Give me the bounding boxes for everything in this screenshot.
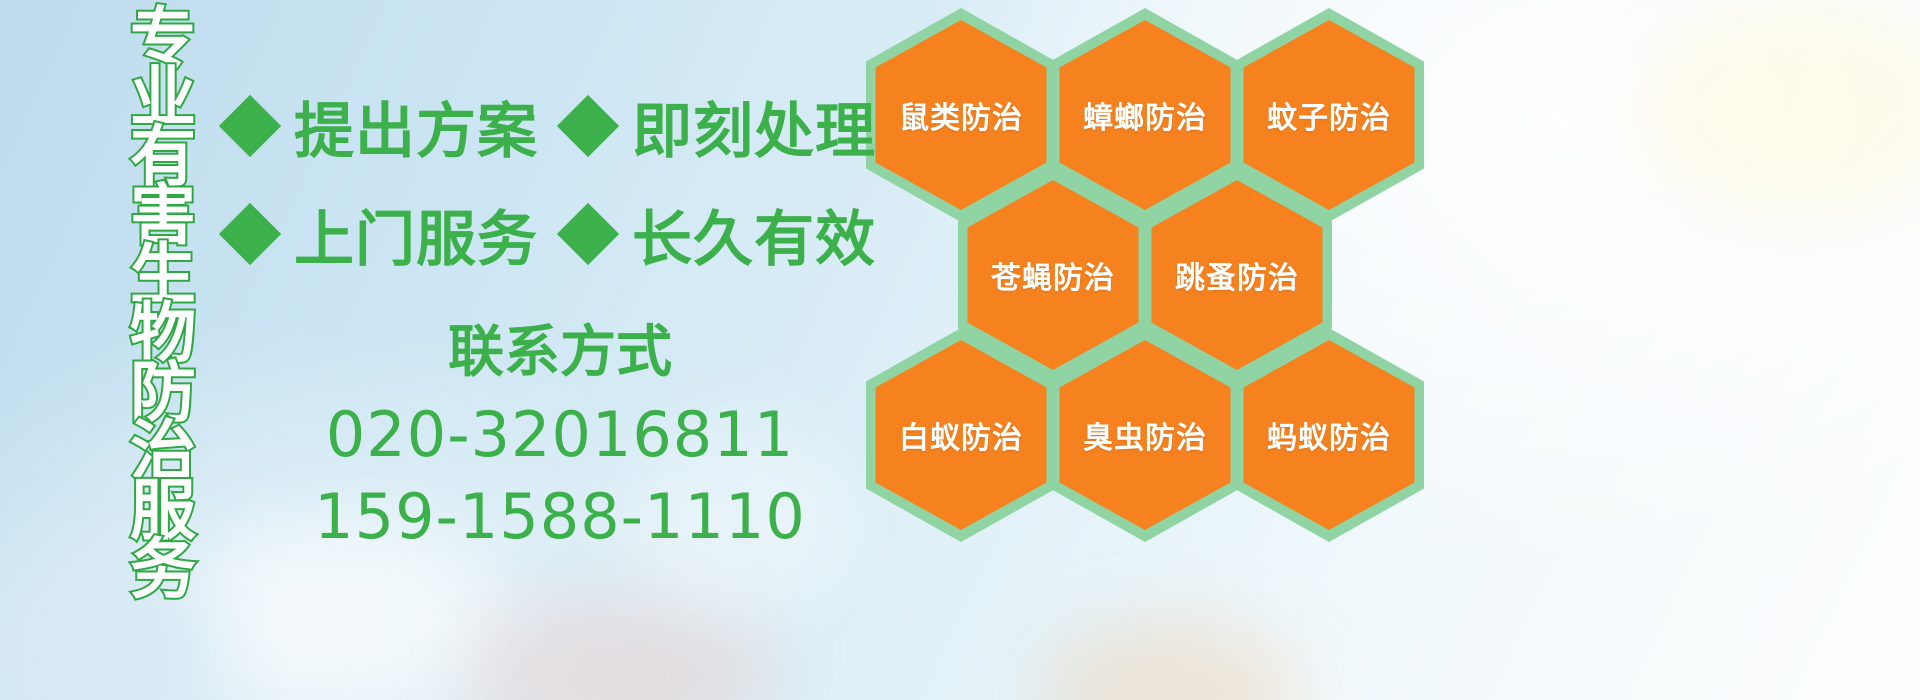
vertical-slogan-char: 治 — [130, 419, 196, 478]
vertical-slogan-char: 物 — [130, 301, 196, 360]
vertical-slogan-char: 有 — [130, 124, 196, 183]
feature-row: 提出方案 即刻处理 — [228, 72, 868, 180]
diamond-icon — [219, 203, 281, 265]
background-blob — [1640, 0, 1920, 220]
diamond-icon — [557, 203, 619, 265]
contact-block: 联系方式 020-32016811 159-1588-1110 — [300, 318, 820, 558]
vertical-slogan-char: 专 — [130, 6, 196, 65]
service-hex-ant[interactable]: 蚂蚁防治 — [1234, 328, 1424, 542]
feature-list: 提出方案 即刻处理 上门服务 长久有效 — [228, 72, 868, 288]
vertical-slogan: 专 业 有 害 生 物 防 治 服 务 — [104, 6, 222, 596]
contact-title: 联系方式 — [300, 318, 820, 388]
feature-row: 上门服务 长久有效 — [228, 180, 868, 288]
phone-number-mobile[interactable]: 159-1588-1110 — [300, 476, 820, 558]
vertical-slogan-char: 防 — [130, 360, 196, 419]
feature-label: 提出方案 — [294, 83, 538, 170]
diamond-icon — [557, 95, 619, 157]
service-label: 臭虫防治 — [1050, 328, 1240, 542]
service-label: 蚂蚁防治 — [1234, 328, 1424, 542]
background-blob — [470, 600, 770, 700]
service-label: 白蚁防治 — [866, 328, 1056, 542]
vertical-slogan-char: 业 — [130, 65, 196, 124]
vertical-slogan-char: 服 — [130, 478, 196, 537]
service-hex-bedbug[interactable]: 臭虫防治 — [1050, 328, 1240, 542]
feature-label: 上门服务 — [294, 191, 538, 278]
feature-label: 即刻处理 — [632, 83, 876, 170]
feature-label: 长久有效 — [632, 191, 876, 278]
vertical-slogan-char: 生 — [130, 242, 196, 301]
phone-number-landline[interactable]: 020-32016811 — [300, 394, 820, 476]
diamond-icon — [219, 95, 281, 157]
background-blob — [1040, 620, 1300, 700]
vertical-slogan-char: 害 — [130, 183, 196, 242]
service-hex-termite[interactable]: 白蚁防治 — [866, 328, 1056, 542]
promo-banner: 专 业 有 害 生 物 防 治 服 务 提出方案 即刻处理 上门服务 长久有效 … — [0, 0, 1920, 700]
vertical-slogan-char: 务 — [130, 537, 196, 596]
